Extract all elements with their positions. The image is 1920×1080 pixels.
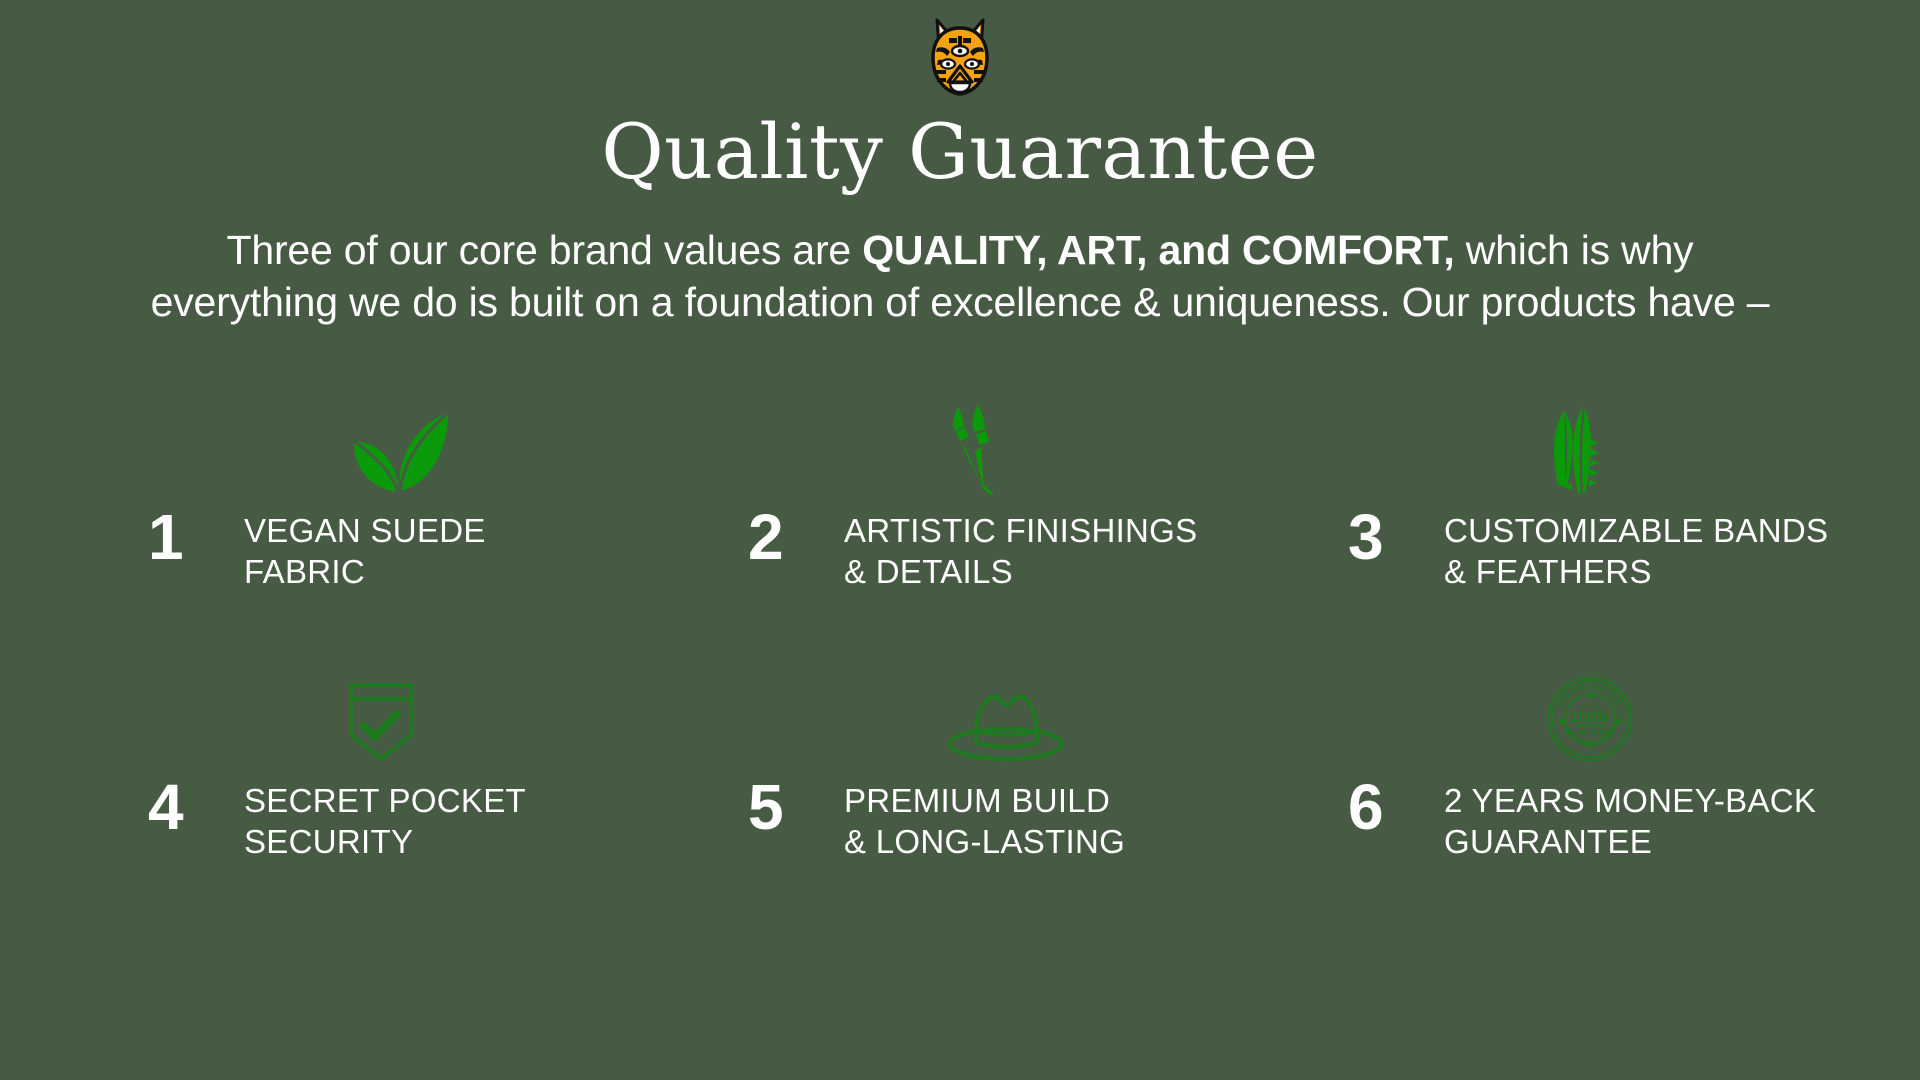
feature-item-4: 4 SECRET POCKET SECURITY [60,653,660,929]
feature-6-number: 6 [1348,775,1444,839]
intro-line1-before: Three of our core brand values are [227,227,863,273]
feature-5-body: 5 PREMIUM BUILD & LONG-LASTING [748,775,1260,863]
feature-4-body: 4 SECRET POCKET SECURITY [148,775,660,863]
feature-2-icon-wrap [748,377,1260,495]
intro-line1-bold: QUALITY, ART, and COMFORT, [862,227,1454,273]
badge-center-text: 100% [1570,709,1610,726]
feature-item-1: 1 VEGAN SUEDE FABRIC [60,377,660,653]
tiger-head-logo-icon [927,18,993,96]
brand-logo [927,14,993,100]
badge-subcenter-text: MONEY BACK [1565,730,1614,737]
feature-2-body: 2 ARTISTIC FINISHINGS & DETAILS [748,505,1260,593]
feature-5-number: 5 [748,775,844,839]
feature-4-label: SECRET POCKET SECURITY [244,775,526,863]
intro-line1-after: which is [1455,227,1610,273]
intro-paragraph: Three of our core brand values are QUALI… [130,224,1790,329]
intro-line3: Our products have – [1402,279,1770,325]
pocket-check-icon [344,679,418,765]
feathers-icon [1544,399,1608,495]
feature-5-icon-wrap [748,653,1260,765]
feature-3-icon-wrap [1348,377,1860,495]
feature-5-label: PREMIUM BUILD & LONG-LASTING [844,775,1125,863]
features-grid: 1 VEGAN SUEDE FABRIC [60,377,1860,929]
leaves-icon [344,403,452,495]
feature-1-number: 1 [148,505,244,569]
feature-4-number: 4 [148,775,244,839]
paintbrushes-icon [944,399,1006,495]
page-title: Quality Guarantee [601,114,1318,190]
feature-1-label: VEGAN SUEDE FABRIC [244,505,486,593]
feature-3-body: 3 CUSTOMIZABLE BANDS & FEATHERS [1348,505,1860,593]
feature-item-3: 3 CUSTOMIZABLE BANDS & FEATHERS [1260,377,1860,653]
feature-6-label: 2 YEARS MONEY-BACK GUARANTEE [1444,775,1816,863]
feature-4-icon-wrap [148,653,660,765]
feature-2-label: ARTISTIC FINISHINGS & DETAILS [844,505,1197,593]
feature-6-body: 6 2 YEARS MONEY-BACK GUARANTEE [1348,775,1860,863]
feature-item-2: 2 ARTISTIC FINISHINGS & DETAILS [660,377,1260,653]
fedora-hat-icon [944,687,1064,765]
feature-3-number: 3 [1348,505,1444,569]
quality-guarantee-section: Quality Guarantee Three of our core bran… [0,0,1920,1080]
money-back-guarantee-badge-icon: GUARANTEE GUARANTEE 100% MONEY BACK [1544,673,1636,765]
feature-1-body: 1 VEGAN SUEDE FABRIC [148,505,660,593]
feature-3-label: CUSTOMIZABLE BANDS & FEATHERS [1444,505,1828,593]
feature-1-icon-wrap [148,377,660,495]
feature-2-number: 2 [748,505,844,569]
feature-item-5: 5 PREMIUM BUILD & LONG-LASTING [660,653,1260,929]
feature-item-6: GUARANTEE GUARANTEE 100% MONEY BACK [1260,653,1860,929]
feature-6-icon-wrap: GUARANTEE GUARANTEE 100% MONEY BACK [1348,653,1860,765]
